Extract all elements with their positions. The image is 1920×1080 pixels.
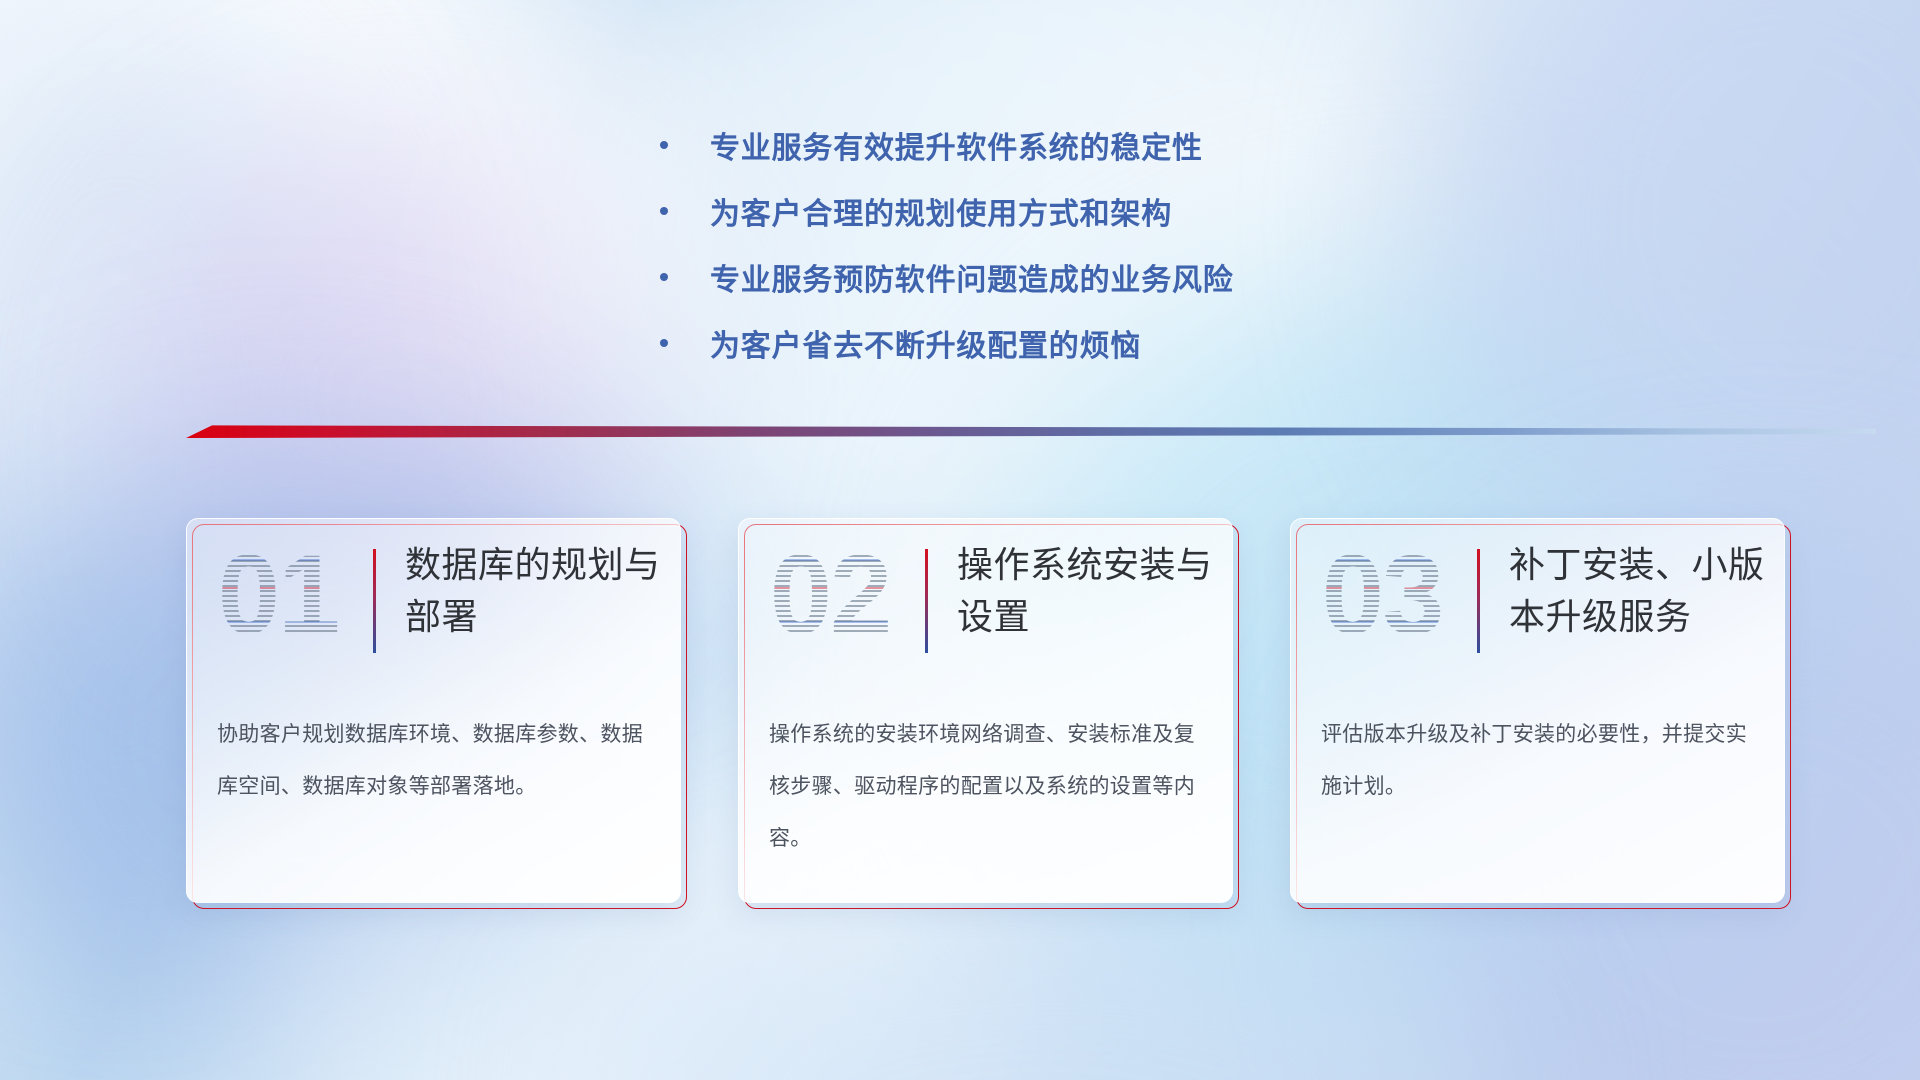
divider-line	[186, 424, 1876, 438]
bullet-dot-icon	[660, 273, 668, 281]
card-surface: 03 03 补丁安装、小版本升级服务 评估版本升级及补丁安装的必要性，并提交实施…	[1290, 518, 1785, 903]
bullet-dot-icon	[660, 141, 668, 149]
card-number-accent-overlay: 01	[203, 525, 353, 665]
card-description: 操作系统的安装环境网络调查、安装标准及复核步骤、驱动程序的配置以及系统的设置等内…	[769, 709, 1205, 865]
card-description: 评估版本升级及补丁安装的必要性，并提交实施计划。	[1321, 709, 1757, 813]
list-item: 专业服务有效提升软件系统的稳定性	[660, 112, 1420, 178]
card-header: 02 02 操作系统安装与设置	[739, 519, 1232, 681]
card-header: 01 01 数据库的规划与部署	[187, 519, 680, 681]
service-card-03[interactable]: 03 03 补丁安装、小版本升级服务 评估版本升级及补丁安装的必要性，并提交实施…	[1290, 518, 1785, 903]
card-description: 协助客户规划数据库环境、数据库参数、数据库空间、数据库对象等部署落地。	[217, 709, 653, 813]
card-title: 补丁安装、小版本升级服务	[1509, 539, 1767, 643]
card-number-accent-overlay: 03	[1307, 525, 1457, 665]
card-title: 数据库的规划与部署	[405, 539, 663, 643]
section-divider	[186, 424, 1876, 438]
card-title: 操作系统安装与设置	[957, 539, 1215, 643]
bullet-dot-icon	[660, 207, 668, 215]
card-surface: 01 01 数据库的规划与部署 协助客户规划数据库环境、数据库参数、数据库空间、…	[186, 518, 681, 903]
card-title-rule	[373, 549, 376, 653]
list-item: 为客户合理的规划使用方式和架构	[660, 178, 1420, 244]
card-header: 03 03 补丁安装、小版本升级服务	[1291, 519, 1784, 681]
service-card-01[interactable]: 01 01 数据库的规划与部署 协助客户规划数据库环境、数据库参数、数据库空间、…	[186, 518, 681, 903]
bullet-text: 专业服务有效提升软件系统的稳定性	[710, 123, 1203, 167]
card-list: 01 01 数据库的规划与部署 协助客户规划数据库环境、数据库参数、数据库空间、…	[186, 518, 1886, 928]
bullet-text: 为客户省去不断升级配置的烦恼	[710, 321, 1141, 365]
bullet-list: 专业服务有效提升软件系统的稳定性 为客户合理的规划使用方式和架构 专业服务预防软…	[660, 112, 1420, 376]
card-surface: 02 02 操作系统安装与设置 操作系统的安装环境网络调查、安装标准及复核步骤、…	[738, 518, 1233, 903]
service-card-02[interactable]: 02 02 操作系统安装与设置 操作系统的安装环境网络调查、安装标准及复核步骤、…	[738, 518, 1233, 903]
list-item: 专业服务预防软件问题造成的业务风险	[660, 244, 1420, 310]
card-number-accent-overlay: 02	[755, 525, 905, 665]
card-title-rule	[1477, 549, 1480, 653]
list-item: 为客户省去不断升级配置的烦恼	[660, 310, 1420, 376]
bullet-text: 专业服务预防软件问题造成的业务风险	[710, 255, 1234, 299]
bullet-dot-icon	[660, 339, 668, 347]
bullet-text: 为客户合理的规划使用方式和架构	[710, 189, 1172, 233]
card-title-rule	[925, 549, 928, 653]
